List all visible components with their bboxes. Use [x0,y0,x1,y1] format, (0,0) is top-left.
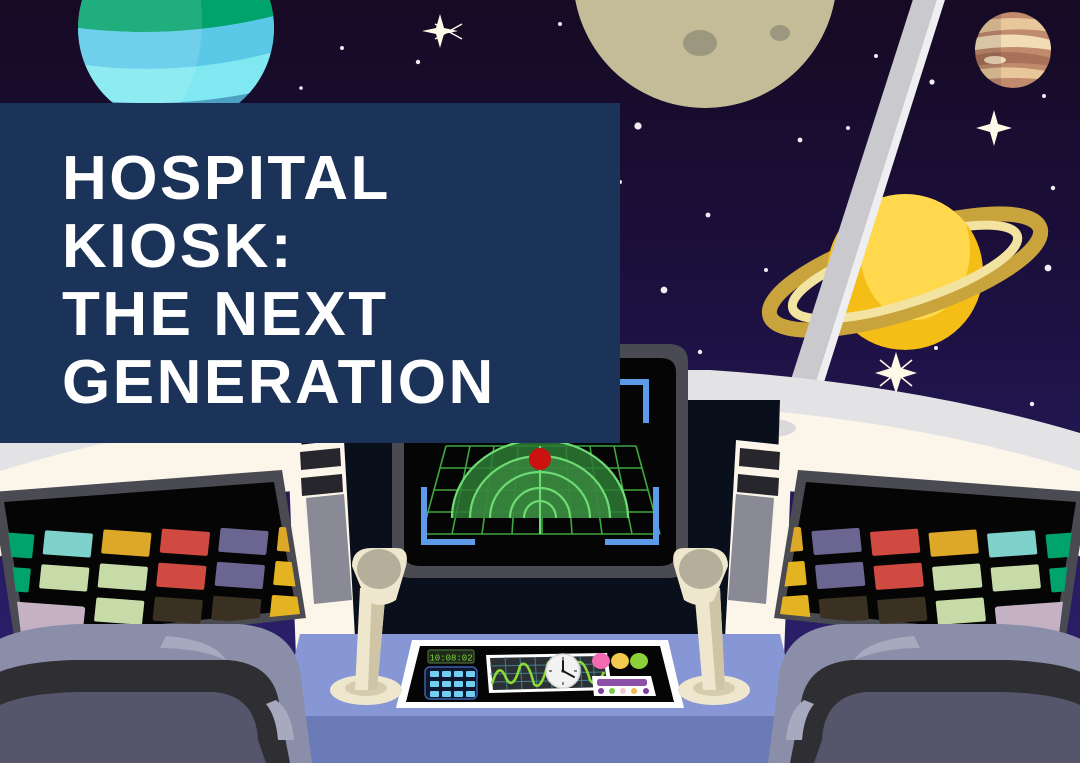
analog-clock [546,654,580,688]
round-indicator-buttons[interactable] [592,653,648,669]
page-title: HOSPITAL KIOSK: THE NEXT GENERATION [62,145,620,417]
center-console[interactable]: 10:08:02 [396,640,684,708]
slider-tray[interactable] [592,676,656,696]
column-grey-right [728,494,774,604]
right-pilot-seat[interactable] [768,624,1080,763]
radar-target-blip [529,448,551,470]
left-pilot-seat[interactable] [0,624,312,763]
digital-readout-value: 10:08:02 [429,654,472,664]
digital-readout: 10:08:02 [428,650,474,664]
slider-bar [597,679,647,686]
numeric-keypad[interactable] [425,667,477,699]
column-grey-left [306,494,352,604]
poster-canvas: 10:08:02 [0,0,1080,763]
title-card: HOSPITAL KIOSK: THE NEXT GENERATION [0,103,620,443]
